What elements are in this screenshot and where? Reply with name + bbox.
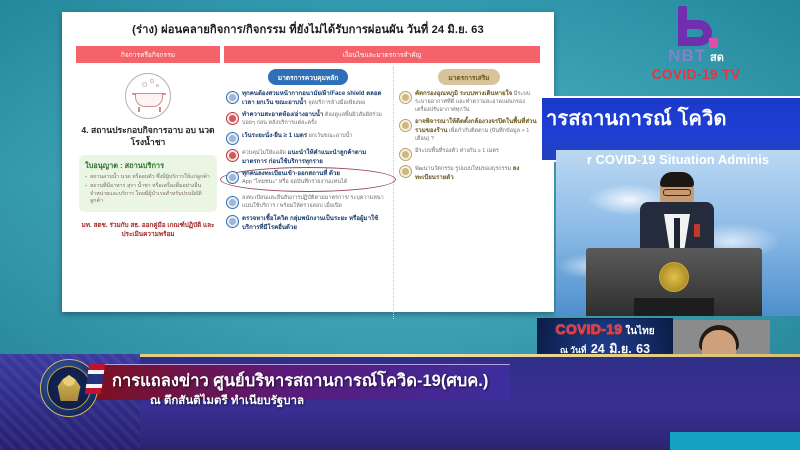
podium xyxy=(586,248,762,316)
measure-sub: ยกเว้นขณะอาบน้ำ xyxy=(309,133,353,139)
bathtub-icon xyxy=(125,73,171,119)
supplementary-measures-pill: มาตรการเสริม xyxy=(438,69,499,85)
stats-title: COVID-19ในไทย xyxy=(543,322,667,338)
thermometer-icon xyxy=(399,91,412,104)
slide-title: (ร่าง) ผ่อนคลายกิจการ/กิจกรรม ที่ยังไม่ไ… xyxy=(62,12,554,38)
distancing-icon xyxy=(226,132,239,145)
header-cell-conditions: เงื่อนไขและมาตรการสำคัญ xyxy=(223,45,541,64)
license-heading: ใบอนุญาต : สถานบริการ xyxy=(85,160,211,172)
measure-row: ตรวจหาเชื้อโควิด กลุ่มพนักงานเป็นระยะ หร… xyxy=(226,215,390,233)
measure-sub: จุดบริการล้างมือเพียงพอ xyxy=(308,100,365,106)
slide-table-body: 4. สถานประกอบกิจการอาบ อบ นวด โรงน้ำชา ใ… xyxy=(75,67,541,319)
measure-row: ทุกคนต้องสวมหน้ากากอนามัย/ผ้า/Face shiel… xyxy=(226,90,390,108)
nbt-mark xyxy=(648,6,744,50)
activity-item-title: 4. สถานประกอบกิจการอาบ อบ นวด โรงน้ำชา xyxy=(79,125,217,148)
register-app-icon xyxy=(226,171,239,184)
program-title-thai: ารสถานการณ์ โควิด xyxy=(542,98,800,134)
activity-footer-note: มท. สตช. ร่วมกับ สธ. ออกคู่มือ เกณฑ์ปฏิบ… xyxy=(79,221,217,240)
measure-row: คัดกรองอุณหภูมิ ระบบทางเดินหายใจ มีระบบร… xyxy=(399,90,539,115)
live-video-feed: r COVID-19 Situation Adminis xyxy=(556,150,800,316)
license-item: สถานอาบน้ำ นวด หรืออบตัว ซึ่งมีผู้บริการ… xyxy=(85,174,211,182)
measure-row: ควบคุมไม่ให้แออัด แนะนำให้คำแนะนำลูกค้าต… xyxy=(226,149,390,167)
license-box: ใบอนุญาต : สถานบริการ สถานอาบน้ำ นวด หรื… xyxy=(79,155,217,212)
banner-subline: ณ ตึกสันติไมตรี ทำเนียบรัฐบาล xyxy=(150,392,550,410)
header-cell-activity: กิจการหรือกิจกรรม xyxy=(75,45,221,64)
measure-row: ทำความสะอาดห้อง/อ่างอาบน้ำ ต้องดูแลพื้นผ… xyxy=(226,111,390,128)
measure-row: อาจพิจารณาให้ติดตั้งกล้องวงจรปิดในพื้นที… xyxy=(399,118,539,144)
column-main-measures: มาตรการควบคุมหลัก ทุกคนต้องสวมหน้ากากอนา… xyxy=(221,67,393,319)
measure-sub: ควบคุมไม่ให้แออัด xyxy=(242,150,286,156)
cctv-camera-icon xyxy=(399,119,412,132)
measure-bold: ทุกคนลงทะเบียนเข้า-ออกสถานที่ ด้วย xyxy=(242,170,340,177)
virus-test-icon xyxy=(226,215,239,228)
stats-title-thai: ในไทย xyxy=(625,326,654,337)
bathtub-icon-wrap xyxy=(79,73,217,119)
column-activity: 4. สถานประกอบกิจการอาบ อบ นวด โรงน้ำชา ใ… xyxy=(75,67,221,319)
podium-emblem-icon xyxy=(659,262,689,292)
innovation-icon xyxy=(399,165,412,178)
main-measures-pill: มาตรการควบคุมหลัก xyxy=(268,69,349,85)
measure-row-highlighted: ทุกคนลงทะเบียนเข้า-ออกสถานที่ ด้วย App "… xyxy=(226,170,390,187)
measure-bold: ตรวจหาเชื้อโควิด กลุ่มพนักงานเป็นระยะ หร… xyxy=(242,215,378,231)
health-check-icon xyxy=(226,196,239,209)
nbt-b-glyph-icon xyxy=(674,6,718,48)
nbt-wordmark: NBT xyxy=(668,46,706,66)
presentation-slide: (ร่าง) ผ่อนคลายกิจการ/กิจกรรม ที่ยังไม่ไ… xyxy=(62,12,554,312)
measure-sub: App "ไทยชนะ" หรือ จดบันทึกรายงานแทนได้ xyxy=(242,179,347,185)
measure-row: มีระบบพื้นที่รองตัว ห่างกัน ≥ 1 เมตร xyxy=(399,148,539,162)
cleaning-spray-icon xyxy=(226,112,239,125)
banner-right-strip xyxy=(670,432,800,450)
measure-sub: ลงทะเบียนและยืนยันการปฏิบัติตามมาตรการ/ … xyxy=(242,195,384,209)
measure-row: ลงทะเบียนและยืนยันการปฏิบัติตามมาตรการ/ … xyxy=(226,195,390,211)
live-badge: สด xyxy=(710,48,724,66)
column-supplementary-measures: มาตรการเสริม คัดกรองอุณหภูมิ ระบบทางเดิน… xyxy=(393,67,541,319)
license-item: สถานที่มีอาหาร สุรา น้ำชา หรือเครื่องดื่… xyxy=(85,183,211,206)
channel-logo-block: NBT สด COVID-19 TV xyxy=(648,6,744,82)
measure-sub: มีระบบพื้นที่รองตัว ห่างกัน ≥ 1 เมตร xyxy=(415,148,499,154)
banner-headline: การแถลงข่าว ศูนย์บริหารสถานการณ์โควิด-19… xyxy=(112,368,532,394)
face-mask-icon xyxy=(226,91,239,104)
thai-government-emblem xyxy=(40,359,98,417)
stats-title-covid: COVID-19 xyxy=(555,321,622,337)
measure-row: พัฒนานวัตกรรม รูปแบบใหม่ของธุรกรรม ลงทะเ… xyxy=(399,165,539,183)
measure-bold: ทำความสะอาดห้อง/อ่างอาบน้ำ xyxy=(242,111,323,118)
measure-bold: คัดกรองอุณหภูมิ ระบบทางเดินหายใจ xyxy=(415,90,512,97)
measure-row: เว้นระยะนั่ง-ยืน ≥ 1 เมตร ยกเว้นขณะอาบน้… xyxy=(226,132,390,146)
measure-sub: พัฒนานวัตกรรม รูปแบบใหม่ของธุรกรรม xyxy=(415,166,511,172)
no-crowd-icon xyxy=(226,149,239,162)
covid-tv-label: COVID-19 TV xyxy=(648,67,744,82)
spacing-icon xyxy=(399,148,412,161)
slide-table-header: กิจการหรือกิจกรรม เงื่อนไขและมาตรการสำคั… xyxy=(75,45,541,64)
program-title-english: r COVID-19 Situation Adminis xyxy=(556,152,800,167)
measure-bold: เว้นระยะนั่ง-ยืน ≥ 1 เมตร xyxy=(242,132,307,139)
lower-third-banner: การแถลงข่าว ศูนย์บริหารสถานการณ์โควิด-19… xyxy=(0,354,800,450)
